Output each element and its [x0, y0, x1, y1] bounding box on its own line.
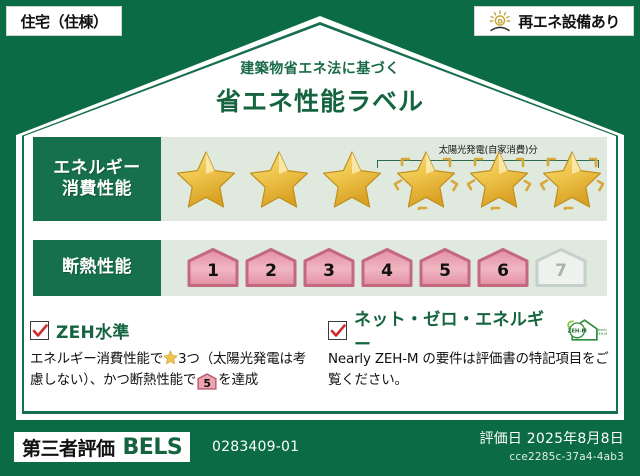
renewable-equipment-chip: D 再エネ設備あり [474, 6, 634, 36]
label-footer: 第三者評価 BELS 0283409-01 評価日 2025年8月8日 cce2… [0, 420, 640, 476]
star-icon-solar [466, 148, 532, 210]
insulation-grade-value: 3 [323, 263, 335, 289]
note-nze-header: ネット・ゼロ・エネルギー ZEH-M Nearly ZEH-M [328, 318, 610, 342]
energy-performance-label: 住宅（住棟） D 再エネ設備あり 建築物省エネ法に基づ [0, 0, 640, 476]
energy-performance-row: エネルギー 消費性能 太陽光発電(自家消費)分 [33, 137, 607, 221]
insulation-grade-badge: 1 [185, 247, 241, 289]
title-main: 省エネ性能ラベル [0, 82, 640, 118]
note-zeh-title: ZEH水準 [56, 318, 130, 343]
star-icon-solar [393, 148, 459, 210]
notes-area: ZEH水準 エネルギー消費性能で3つ（太陽光発電は考慮しない）、かつ断熱性能で5… [30, 318, 610, 410]
insulation-grade-value: 6 [497, 263, 509, 289]
note-zeh-body-pre: エネルギー消費性能で [30, 351, 163, 367]
insulation-grade-value: 5 [439, 263, 451, 289]
insulation-grade-value: 1 [207, 263, 219, 289]
star-icon [163, 350, 178, 365]
bels-en-label: BELS [123, 435, 183, 460]
evaluation-date-line: 評価日 2025年8月8日 [479, 428, 624, 448]
housing-type-chip: 住宅（住棟） [6, 6, 122, 36]
insulation-grade-value: 2 [265, 263, 277, 289]
insulation-grade-badge-inactive: 7 [533, 247, 589, 289]
evaluation-date-block: 評価日 2025年8月8日 cce2285c-37a4-4ab3 [479, 428, 624, 463]
energy-label-line1: エネルギー [53, 158, 141, 179]
insulation-grade-inline-value: 5 [197, 373, 217, 394]
svg-text:ZEH-M: ZEH-M [568, 329, 587, 335]
note-zeh-standard: ZEH水準 エネルギー消費性能で3つ（太陽光発電は考慮しない）、かつ断熱性能で5… [30, 318, 312, 410]
note-zeh-header: ZEH水準 [30, 318, 312, 342]
insulation-grade-value: 4 [381, 263, 393, 289]
energy-performance-rating-area: 太陽光発電(自家消費)分 [161, 137, 607, 221]
insulation-grade-badge: 2 [243, 247, 299, 289]
star-icon [246, 148, 312, 210]
note-nze-title: ネット・ゼロ・エネルギー [354, 305, 555, 355]
star-icon [173, 148, 239, 210]
label-title-block: 建築物省エネ法に基づく 省エネ性能ラベル [0, 58, 640, 118]
insulation-grade-badge: 5 [417, 247, 473, 289]
energy-star-rating [161, 148, 607, 210]
insulation-grade-badge: 4 [359, 247, 415, 289]
star-icon [319, 148, 385, 210]
bels-jp-label: 第三者評価 [22, 434, 115, 461]
insulation-grade-badges: 1 2 3 4 5 6 [161, 247, 607, 289]
zeh-m-logo-icon: ZEH-M Nearly ZEH-M [564, 317, 610, 343]
insulation-label: 断熱性能 [62, 257, 132, 278]
note-nze-body: Nearly ZEH-M の要件は評価書の特記項目をご覧ください。 [328, 349, 610, 391]
svg-text:D: D [498, 18, 503, 25]
note-zeh-body: エネルギー消費性能で3つ（太陽光発電は考慮しない）、かつ断熱性能で5を達成 [30, 349, 312, 391]
insulation-performance-label-box: 断熱性能 [33, 240, 161, 296]
evaluation-date-label: 評価日 [479, 431, 522, 447]
note-net-zero-energy: ネット・ゼロ・エネルギー ZEH-M Nearly ZEH-M Nearly Z… [328, 318, 610, 410]
svg-text:ZEH-M: ZEH-M [596, 332, 607, 336]
housing-type-label: 住宅（住棟） [20, 11, 107, 32]
evaluation-date-value: 2025年8月8日 [527, 431, 624, 447]
check-icon [30, 321, 49, 340]
renewable-equipment-label: 再エネ設備あり [518, 11, 620, 32]
bels-certificate-number: 0283409-01 [212, 439, 299, 455]
insulation-grade-badge: 3 [301, 247, 357, 289]
insulation-rating-area: 1 2 3 4 5 6 [161, 240, 607, 296]
note-zeh-body-post: を達成 [218, 372, 258, 388]
energy-performance-label-box: エネルギー 消費性能 [33, 137, 161, 221]
bels-badge: 第三者評価 BELS [14, 432, 190, 462]
record-id: cce2285c-37a4-4ab3 [479, 451, 624, 463]
title-subtitle: 建築物省エネ法に基づく [0, 58, 640, 78]
insulation-performance-row: 断熱性能 1 2 3 4 [33, 240, 607, 296]
energy-label-line2: 消費性能 [62, 179, 132, 200]
insulation-grade-value: 7 [555, 263, 567, 289]
insulation-grade-badge: 6 [475, 247, 531, 289]
insulation-grade-inline-badge: 5 [197, 373, 217, 390]
sun-icon: D [488, 10, 512, 32]
check-icon [328, 321, 347, 340]
star-icon-solar [539, 148, 605, 210]
